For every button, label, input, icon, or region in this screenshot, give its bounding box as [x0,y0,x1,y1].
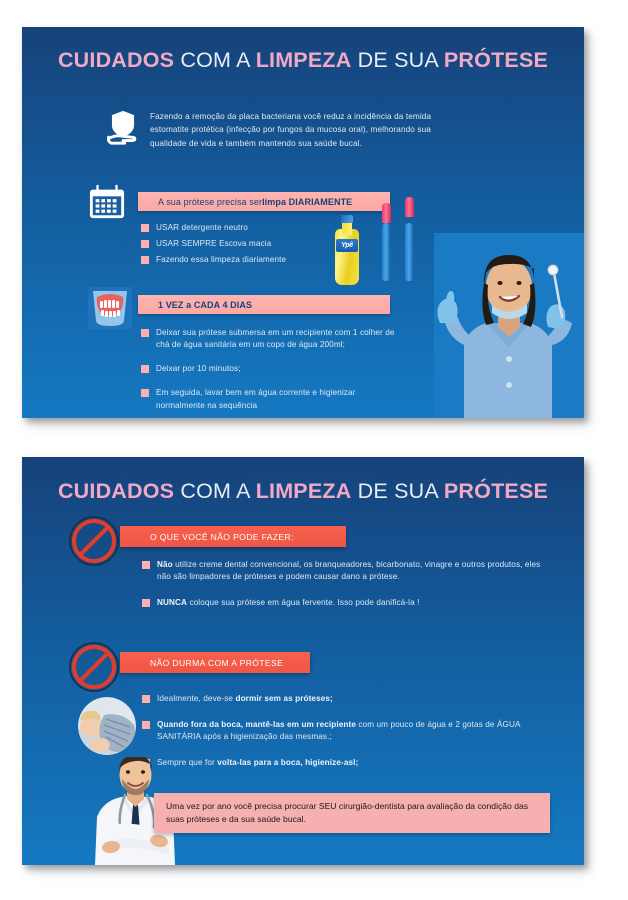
list-item-label: Quando fora da boca, mantê-las em um rec… [157,719,542,743]
denture-in-glass-icon [88,287,132,329]
banner-4-days: 1 VEZ a CADA 4 DIAS [138,295,390,314]
calendar-icon [88,184,126,220]
list-item-bold: volta-las para a boca, higienize-asl; [217,758,358,767]
prohibition-outer-ring [69,642,119,692]
list-item-label: USAR SEMPRE Escova macia [156,238,271,250]
bullet-square-icon [142,599,150,607]
dentist-photo [434,233,584,418]
bullet-square-icon [141,240,149,248]
list-item-label: Fazendo essa limpeza diariamente [156,254,286,266]
banner-no-sleep-label: NÃO DURMA COM A PRÓTESE [150,658,283,668]
list-item-label: NUNCA coloque sua prótese em água ferven… [157,597,420,609]
list-item-rest: utilize creme dental convencional, os br… [157,560,540,581]
list-item: Quando fora da boca, mantê-las em um rec… [142,719,542,743]
list-item-pre: Idealmente, deve-se [157,694,235,703]
prohibition-outer-ring [69,516,119,566]
toothbrush-handle [405,223,413,281]
banner-prohibited: O QUE VOCÊ NÃO PODE FAZER: [120,526,346,547]
banner-daily-bold: limpa DIARIAMENTE [262,197,352,207]
toothbrush-icon-2 [405,197,414,281]
toothbrush-icon-1 [382,203,391,281]
prohibition-sign-icon-2 [72,645,116,689]
page-title-2: CUIDADOS COM A LIMPEZA DE SUA PRÓTESE [22,479,584,504]
list-item: Fazendo essa limpeza diariamente [141,254,351,266]
bullet-square-icon [141,329,149,337]
bottle-cap [341,215,353,223]
title-part-com-a: COM A [174,48,255,72]
list-item-label: Não utilize creme dental convencional, o… [157,559,554,583]
list-item-label: Deixar por 10 minutos; [156,363,241,375]
bottle-body [335,229,359,285]
bottle-neck [342,221,352,235]
banner-daily: A sua prótese precisa ser limpa DIARIAME… [138,192,390,211]
callout-box: Uma vez por ano você precisa procurar SE… [154,793,550,833]
banner-daily-normal: A sua prótese precisa ser [158,197,262,207]
title-part-cuidados: CUIDADOS [58,479,174,503]
list-item-bold: Quando fora da boca, mantê-las em um rec… [157,720,356,729]
title-part-protese: PRÓTESE [444,48,548,72]
bullet-square-icon [142,695,150,703]
list-item: NUNCA coloque sua prótese em água ferven… [142,597,554,609]
title-part-de-sua: DE SUA [351,48,443,72]
callout-text: Uma vez por ano você precisa procurar SE… [166,801,528,824]
bullet-list-daily: USAR detergente neutro USAR SEMPRE Escov… [141,222,351,270]
prohibition-sign-icon-1 [72,519,116,563]
bullet-square-icon [141,256,149,264]
list-item: USAR detergente neutro [141,222,351,234]
list-item: Idealmente, deve-se dormir sem as prótes… [142,693,542,705]
list-item: USAR SEMPRE Escova macia [141,238,351,250]
bullet-square-icon [142,721,150,729]
bullet-list-4-days: Deixar sua prótese submersa em um recipi… [141,327,403,416]
list-item-label: Idealmente, deve-se dormir sem as prótes… [157,693,333,705]
list-item: Não utilize creme dental convencional, o… [142,559,554,583]
title-part-limpeza: LIMPEZA [256,48,352,72]
list-item: Sempre que for volta-las para a boca, hi… [142,757,542,769]
slide-card-2: CUIDADOS COM A LIMPEZA DE SUA PRÓTESE O … [22,457,584,865]
sleeping-person-photo [78,697,136,755]
detergent-bottle-icon: Ypê [335,215,359,285]
list-item-rest: coloque sua prótese em água fervente. Is… [187,598,419,607]
infographic-page: CUIDADOS COM A LIMPEZA DE SUA PRÓTESE Fa… [0,0,628,900]
page-title-1: CUIDADOS COM A LIMPEZA DE SUA PRÓTESE [22,48,584,73]
banner-no-sleep: NÃO DURMA COM A PRÓTESE [120,652,310,673]
list-item: Deixar sua prótese submersa em um recipi… [141,327,403,351]
bullet-square-icon [141,389,149,397]
list-item: Deixar por 10 minutos; [141,363,403,375]
title-part-com-a: COM A [174,479,255,503]
list-item-label: Sempre que for volta-las para a boca, hi… [157,757,358,769]
list-item: Em seguida, lavar bem em água corrente e… [141,387,403,411]
bullet-square-icon [142,561,150,569]
list-item-label: Em seguida, lavar bem em água corrente e… [156,387,403,411]
title-part-limpeza: LIMPEZA [256,479,352,503]
bottle-label: Ypê [336,239,358,252]
title-part-protese: PRÓTESE [444,479,548,503]
bullet-list-sleep: Idealmente, deve-se dormir sem as prótes… [142,693,542,774]
list-item-bold: Não [157,560,173,569]
slide-card-1: CUIDADOS COM A LIMPEZA DE SUA PRÓTESE Fa… [22,27,584,418]
list-item-label: USAR detergente neutro [156,222,248,234]
bullet-square-icon [141,365,149,373]
toothbrush-bristles [405,197,414,217]
list-item-bold: NUNCA [157,598,187,607]
shield-hand-icon [106,109,140,145]
bullet-list-prohibited: Não utilize creme dental convencional, o… [142,559,554,613]
list-item-bold: dormir sem as próteses; [235,694,332,703]
banner-prohibited-label: O QUE VOCÊ NÃO PODE FAZER: [150,532,294,542]
title-part-de-sua: DE SUA [351,479,443,503]
list-item-label: Deixar sua prótese submersa em um recipi… [156,327,403,351]
intro-paragraph: Fazendo a remoção da placa bacteriana vo… [150,110,442,150]
bullet-square-icon [141,224,149,232]
toothbrush-bristles [382,203,391,223]
title-part-cuidados: CUIDADOS [58,48,174,72]
banner-4-days-label: 1 VEZ a CADA 4 DIAS [158,300,252,310]
toothbrush-handle [382,223,390,281]
